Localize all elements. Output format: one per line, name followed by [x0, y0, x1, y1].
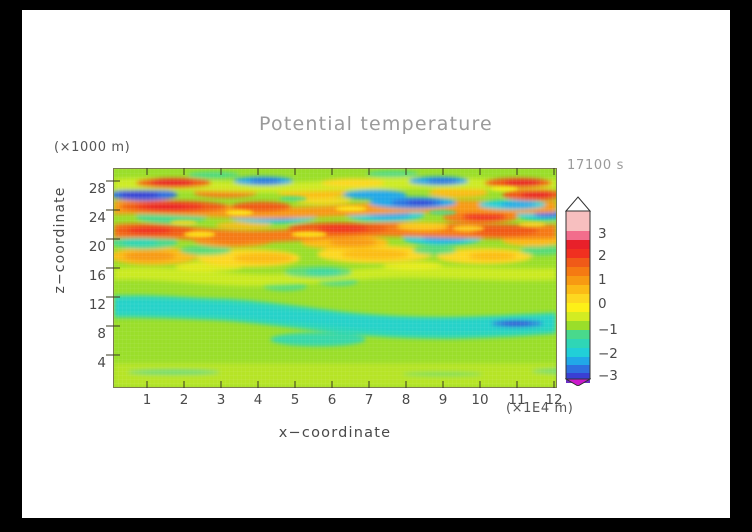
y-tick-label: 16 — [89, 268, 106, 284]
y-tick-label: 4 — [97, 355, 106, 371]
x-tick-label: 2 — [180, 392, 189, 408]
x-tick-label: 1 — [143, 392, 152, 408]
x-axis-ticks: 1 2 3 4 5 6 7 8 9 10 11 12 — [113, 392, 557, 412]
x-tick-label: 6 — [328, 392, 337, 408]
y-tick-label: 12 — [89, 297, 106, 313]
colorbar-tick-label: −2 — [598, 346, 618, 362]
colorbar-tick-label: 1 — [598, 272, 607, 288]
contour-plot-area — [113, 168, 557, 388]
x-tick-label: 10 — [471, 392, 488, 408]
timestamp-label: 17100 s — [567, 158, 624, 173]
plot-canvas: Potential temperature (×1000 m) 17100 s — [22, 10, 730, 518]
y-axis-title: z−coordinate — [52, 160, 68, 320]
x-tick-label: 3 — [217, 392, 226, 408]
contour-field — [114, 169, 556, 387]
y-tick-label: 20 — [89, 239, 106, 255]
colorbar-tick-label: 0 — [598, 296, 607, 312]
y-tick-label: 28 — [89, 181, 106, 197]
x-axis-title: x−coordinate — [113, 425, 557, 441]
y-axis-unit-label: (×1000 m) — [54, 140, 130, 155]
x-tick-label: 5 — [291, 392, 300, 408]
colorbar-tick-label: 3 — [598, 226, 607, 242]
y-tick-label: 24 — [89, 210, 106, 226]
image-border: Potential temperature (×1000 m) 17100 s — [0, 0, 752, 532]
colorbar-ticks: 3 2 1 0 −1 −2 −3 — [598, 196, 638, 386]
y-tick-label: 8 — [97, 326, 106, 342]
x-tick-label: 7 — [365, 392, 374, 408]
x-tick-label: 4 — [254, 392, 263, 408]
colorbar-gradient — [565, 196, 591, 386]
x-axis-unit-label: (×1E4 m) — [506, 401, 573, 416]
x-tick-label: 9 — [439, 392, 448, 408]
colorbar — [565, 196, 591, 386]
colorbar-tick-label: −1 — [598, 322, 618, 338]
x-tick-label: 8 — [402, 392, 411, 408]
colorbar-tick-label: 2 — [598, 248, 607, 264]
colorbar-tick-label: −3 — [598, 368, 618, 384]
page-title: Potential temperature — [22, 113, 730, 135]
